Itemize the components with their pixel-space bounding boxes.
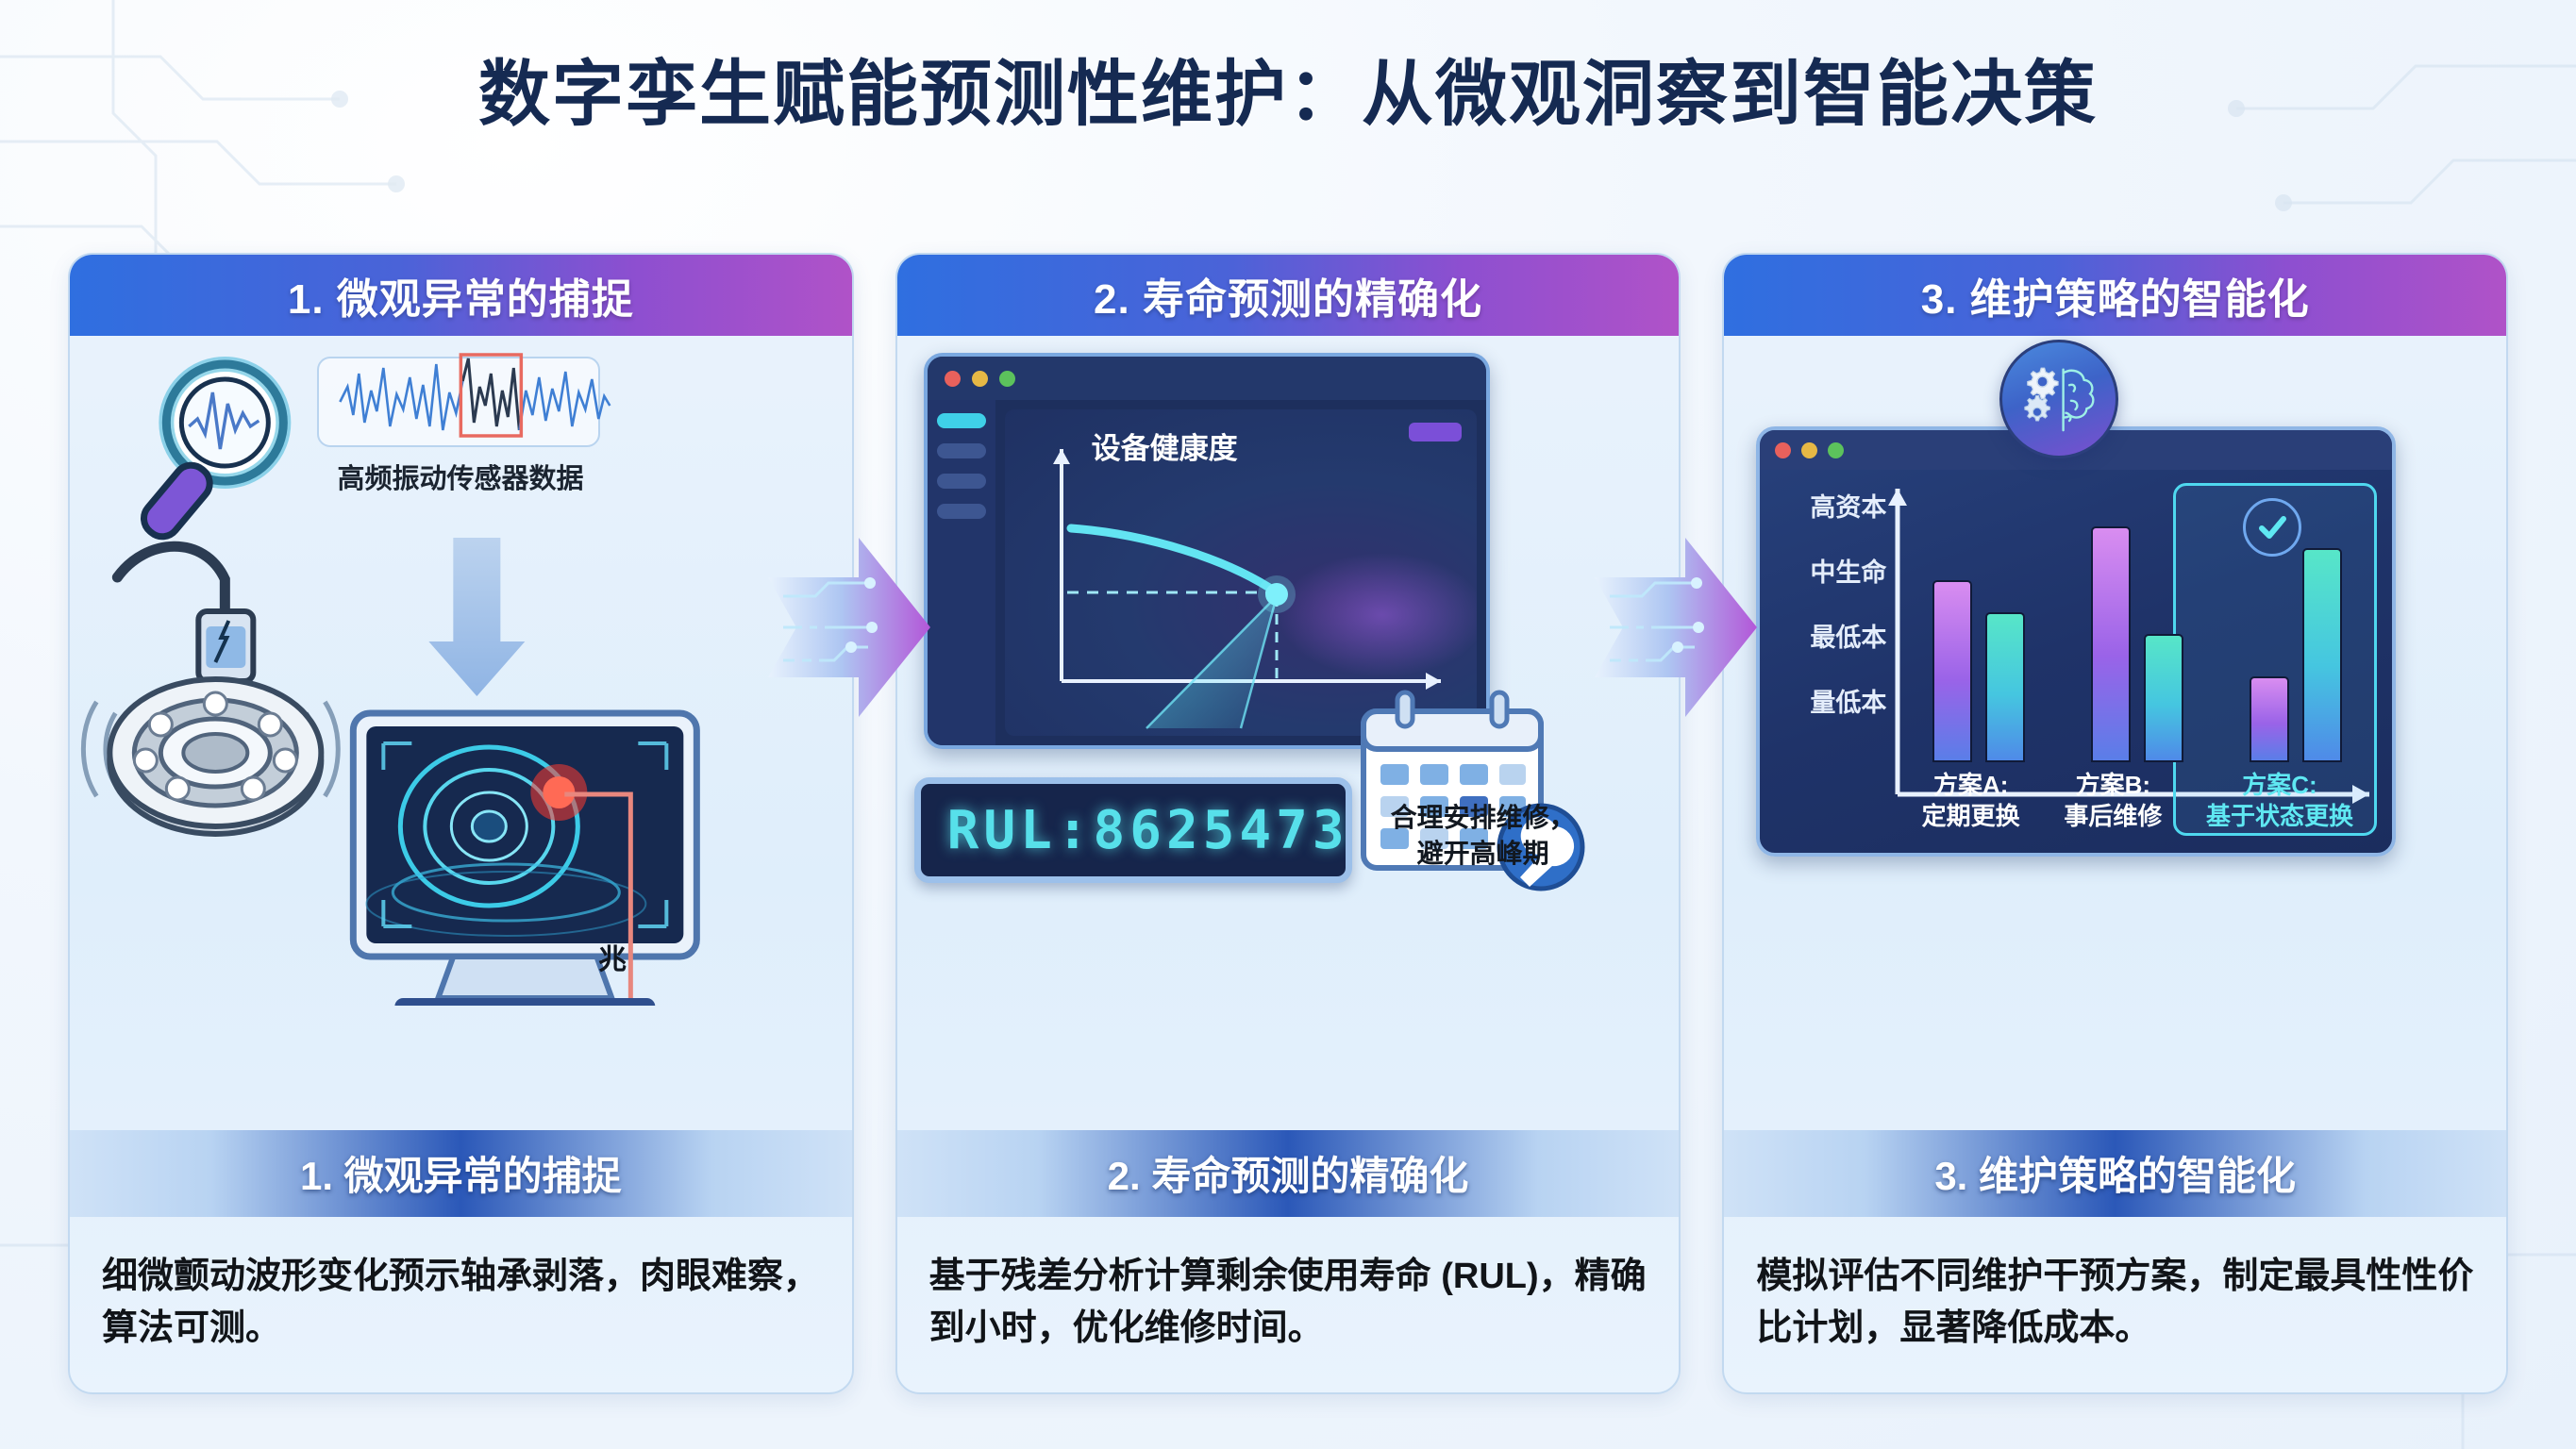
vibration-trace-tail — [519, 372, 610, 430]
x-tick-a: 方案A: 定期更换 — [1922, 764, 2020, 845]
chart-y-tick-labels: 高资本 中生命 最低本 量低本 — [1773, 487, 1886, 719]
bar-a-benefit — [1985, 612, 2025, 762]
bar-group-a — [1932, 494, 2025, 762]
panel-1-description: 细微颤动波形变化预示轴承剥落，肉眼难察，算法可测。 — [70, 1217, 852, 1392]
panel-1-header-text: 1. 微观异常的捕捉 — [288, 265, 634, 325]
sidebar-item-2[interactable] — [937, 443, 986, 458]
panel-3-description: 模拟评估不同维护干预方案，制定最具性性价比计划，显著降低成本。 — [1724, 1217, 2506, 1392]
flow-down-arrow — [428, 538, 525, 696]
brain-icon — [2064, 370, 2094, 430]
sensor-cable — [117, 546, 225, 619]
rul-display: RUL:8625473 — [914, 777, 1352, 883]
x-tick-c-line1: 方案C: — [2206, 770, 2353, 801]
y-tick-1: 中生命 — [1773, 552, 1886, 589]
bearing-icon — [109, 679, 321, 834]
bar-group-b — [2091, 494, 2183, 762]
strategy-dashboard-window: 高资本 中生命 最低本 量低本 — [1756, 426, 2396, 857]
panel-microscopic-anomaly: 1. 微观异常的捕捉 — [68, 253, 854, 1394]
rul-display-value: RUL:8625473 — [947, 800, 1349, 861]
window-minimize-icon[interactable] — [972, 371, 988, 387]
gear-icon-small — [2025, 396, 2049, 421]
bar-a-cost — [1932, 580, 1972, 762]
x-tick-b: 方案B: 事后维修 — [2064, 764, 2162, 845]
panels-container: 1. 微观异常的捕捉 — [68, 253, 2508, 1394]
window-minimize-icon[interactable] — [1801, 442, 1817, 458]
cost-benefit-chart: 高资本 中生命 最低本 量低本 — [1760, 470, 2392, 853]
bar-b-benefit — [2144, 634, 2183, 762]
ai-badge-svg — [2016, 356, 2102, 442]
health-degradation-curve — [1071, 528, 1277, 592]
bar-c-benefit — [2302, 548, 2342, 762]
panel-3-subtitle: 3. 维护策略的智能化 — [1934, 1144, 2296, 1202]
dashboard-sidebar — [928, 400, 995, 745]
x-tick-c-line2: 基于状态更换 — [2206, 801, 2353, 832]
defect-annotation-label: 兆 — [598, 936, 627, 977]
page-title: 数字孪生赋能预测性维护：从微观洞察到智能决策 — [0, 36, 2576, 140]
window-maximize-icon[interactable] — [1828, 442, 1844, 458]
y-tick-2: 最低本 — [1773, 617, 1886, 654]
panel-rul-prediction: 2. 寿命预测的精确化 — [895, 253, 1681, 1394]
x-tick-c: 方案C: 基于状态更换 — [2206, 764, 2353, 845]
sidebar-item-active[interactable] — [937, 413, 986, 428]
panel-maintenance-strategy: 3. 维护策略的智能化 — [1722, 253, 2508, 1394]
monitor-icon — [353, 713, 696, 1006]
x-tick-b-line2: 事后维修 — [2064, 801, 2162, 832]
vibration-trace — [340, 364, 462, 430]
panel-2-header-text: 2. 寿命预测的精确化 — [1094, 265, 1482, 325]
window-close-icon[interactable] — [945, 371, 961, 387]
panel-2-subtitle: 2. 寿命预测的精确化 — [1108, 1144, 1469, 1202]
vibration-trace-anomaly — [462, 358, 519, 430]
ai-brain-gear-icon — [1999, 340, 2118, 458]
sidebar-item-4[interactable] — [937, 504, 986, 519]
window-maximize-icon[interactable] — [999, 371, 1015, 387]
gear-icon — [2028, 368, 2058, 398]
sidebar-item-3[interactable] — [937, 474, 986, 489]
panel-3-header-text: 3. 维护策略的智能化 — [1921, 265, 2310, 325]
window-titlebar — [928, 357, 1486, 400]
panel-3-header: 3. 维护策略的智能化 — [1724, 255, 2506, 336]
panel-2-subtitle-bar: 2. 寿命预测的精确化 — [897, 1130, 1680, 1217]
calendar-note: 合理安排维修，避开高峰期 — [1375, 800, 1592, 872]
panel-2-header: 2. 寿命预测的精确化 — [897, 255, 1680, 336]
panel-3-illustration: 高资本 中生命 最低本 量低本 — [1724, 336, 2506, 1130]
x-tick-b-line1: 方案B: — [2064, 770, 2162, 801]
infographic-root: 数字孪生赋能预测性维护：从微观洞察到智能决策 1. 微观异常的捕捉 — [0, 0, 2576, 1449]
bar-c-cost — [2250, 676, 2289, 762]
x-tick-a-line2: 定期更换 — [1922, 801, 2020, 832]
panel-2-description: 基于残差分析计算剩余使用寿命 (RUL)，精确到小时，优化维修时间。 — [897, 1217, 1680, 1392]
panel-2-illustration: 设备健康度 — [897, 336, 1680, 1130]
panel-1-subtitle: 1. 微观异常的捕捉 — [300, 1144, 622, 1202]
panel-1-subtitle-bar: 1. 微观异常的捕捉 — [70, 1130, 852, 1217]
page-title-wrap: 数字孪生赋能预测性维护：从微观洞察到智能决策 — [0, 36, 2576, 140]
bar-b-cost — [2091, 526, 2131, 762]
chart-x-tick-labels: 方案A: 定期更换 方案B: 事后维修 方案C: 基于状态更换 — [1899, 764, 2375, 845]
panel-3-subtitle-bar: 3. 维护策略的智能化 — [1724, 1130, 2506, 1217]
bearing-sensor-monitor-graphic — [70, 477, 852, 1006]
y-tick-3: 量低本 — [1773, 682, 1886, 719]
window-close-icon[interactable] — [1775, 442, 1791, 458]
panel-1-illustration: 高频振动传感器数据 — [70, 336, 852, 1130]
x-tick-a-line1: 方案A: — [1922, 770, 2020, 801]
panel-1-header: 1. 微观异常的捕捉 — [70, 255, 852, 336]
bar-group-c — [2250, 494, 2342, 762]
chart-bar-groups — [1899, 494, 2375, 762]
y-tick-0: 高资本 — [1773, 487, 1886, 524]
